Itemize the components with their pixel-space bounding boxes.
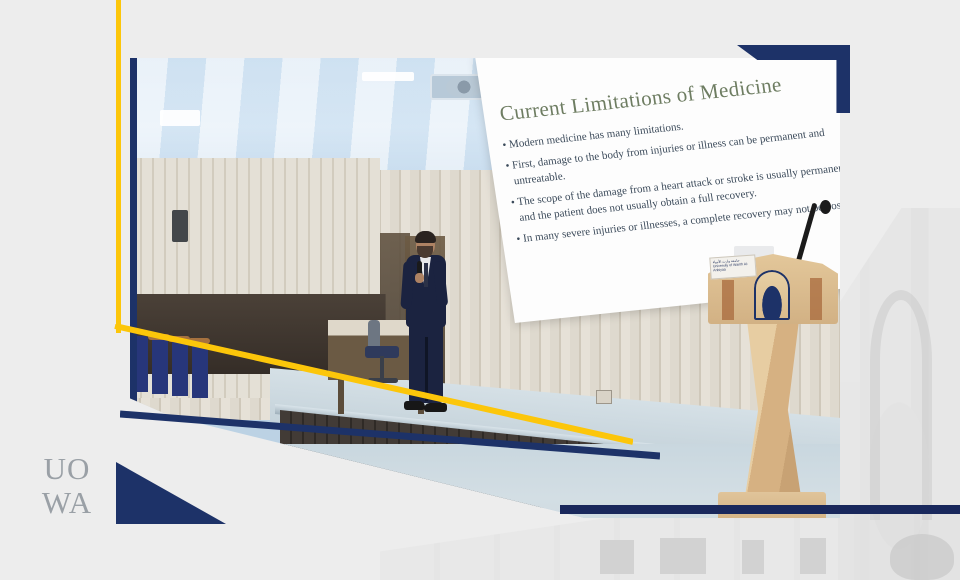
arch-watermark-icon xyxy=(870,290,932,520)
lectern: جامعة وارث الأنبياء University of Warith… xyxy=(708,254,838,518)
university-emblem-icon xyxy=(754,270,790,320)
watermark-shrub xyxy=(890,534,954,580)
logo-line-1: UO xyxy=(30,452,104,486)
auditorium-chair xyxy=(192,342,208,398)
chair-armrest xyxy=(148,334,170,340)
watermark-window xyxy=(600,540,634,574)
presenter-shoe xyxy=(424,403,447,412)
lectern-inlay xyxy=(810,278,822,320)
presenter-hand xyxy=(415,273,424,283)
slide-bullet-list: Modern medicine has many limitations. Fi… xyxy=(501,101,840,252)
presenter-shoe xyxy=(404,401,425,410)
ceiling-light xyxy=(362,72,414,81)
podium-microphone-head-icon xyxy=(820,200,831,214)
chair-armrest xyxy=(188,338,210,344)
auditorium-chair xyxy=(152,338,168,394)
lectern-name-plate: جامعة وارث الأنبياء University of Warith… xyxy=(709,254,756,279)
wall-socket xyxy=(596,390,612,404)
auditorium-chair xyxy=(172,340,188,396)
presenter-figure xyxy=(402,233,448,418)
poster-canvas: Current Limitations of Medicine Modern m… xyxy=(0,0,960,580)
event-photo: Current Limitations of Medicine Modern m… xyxy=(130,58,840,518)
presenter-hair xyxy=(415,231,436,243)
presenter-tie xyxy=(424,263,428,287)
ceiling-fan-icon xyxy=(446,76,482,98)
presenter-leg-split xyxy=(425,337,428,401)
office-chair-base xyxy=(368,378,398,383)
audience-seating xyxy=(132,328,242,408)
watermark-window xyxy=(660,538,706,574)
lectern-column xyxy=(742,320,804,500)
wall-speaker xyxy=(172,210,188,242)
navy-triangle-accent xyxy=(116,462,226,524)
auditorium-chair xyxy=(132,336,148,392)
ceiling-light xyxy=(160,110,200,126)
lectern-inlay xyxy=(722,280,734,320)
table-leg xyxy=(338,376,344,414)
logo-line-2: WA xyxy=(30,486,104,520)
lectern-plate-line2: University of Warith Al-Anbiyaa xyxy=(713,262,753,273)
watermark-window xyxy=(742,540,764,574)
uowa-logo: UO WA xyxy=(30,452,104,524)
chair-armrest xyxy=(168,336,190,342)
yellow-accent-line xyxy=(116,0,121,333)
navy-bottom-bar xyxy=(560,505,960,514)
watermark-window xyxy=(800,538,826,574)
